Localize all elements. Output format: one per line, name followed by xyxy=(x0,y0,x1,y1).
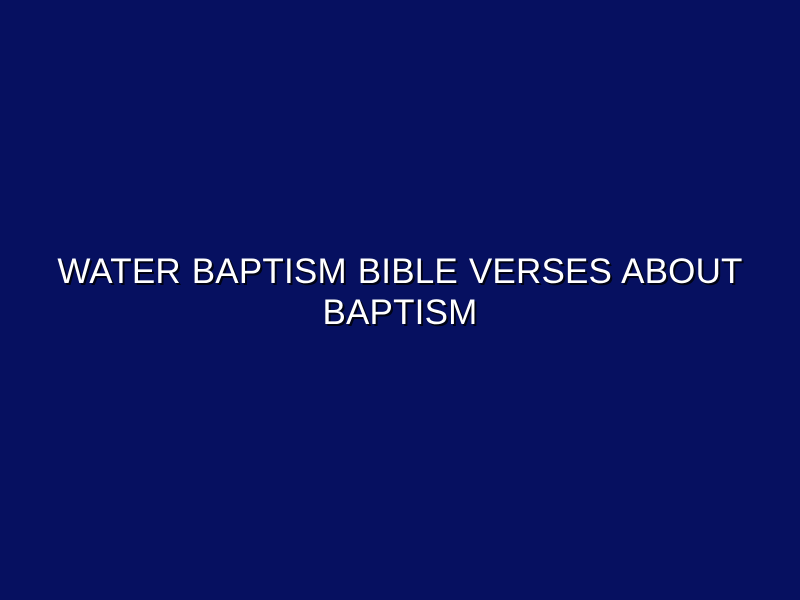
title-block: Water Baptism Bible Verses About Baptism xyxy=(50,251,750,333)
page-title: Water Baptism Bible Verses About Baptism xyxy=(50,251,750,333)
slide-canvas: Water Baptism Bible Verses About Baptism xyxy=(0,0,800,600)
